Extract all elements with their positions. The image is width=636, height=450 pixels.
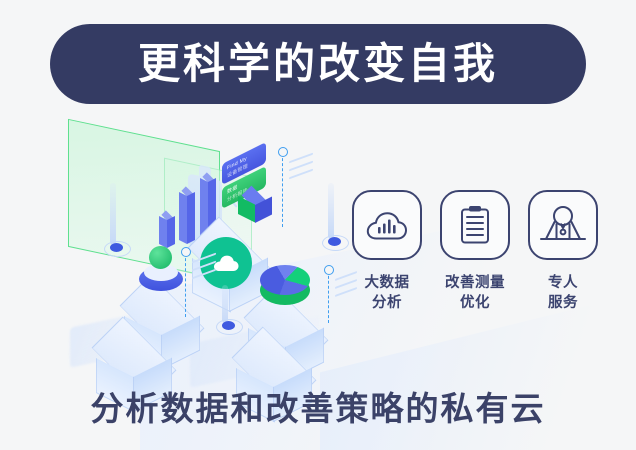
- pie-chart-top: [260, 265, 310, 295]
- connector-node-2: [278, 147, 288, 157]
- pin-right: [328, 237, 341, 246]
- feature-label: 专人 服务: [548, 273, 578, 313]
- cloud-bar-chart-icon: [352, 190, 422, 260]
- page-title: 更科学的改变自我: [138, 43, 498, 85]
- hatch-2c: [289, 169, 313, 180]
- knob-ball: [149, 246, 172, 269]
- poster-canvas: 更科学的改变自我: [0, 0, 636, 450]
- feature-label: 大数据 分析: [365, 273, 410, 313]
- connector-line-3: [328, 271, 329, 323]
- connector-line-2: [282, 153, 283, 227]
- title-banner: 更科学的改变自我: [50, 24, 586, 104]
- feature-big-data-analysis[interactable]: 大数据 分析: [350, 190, 424, 313]
- pin-left: [110, 243, 123, 252]
- connector-node-1: [181, 247, 191, 257]
- clipboard-icon: [440, 190, 510, 260]
- pole-left: [110, 183, 116, 245]
- connector-line-1: [185, 253, 186, 317]
- feature-dedicated-service[interactable]: 专人 服务: [526, 190, 600, 313]
- cloud-icon: [212, 253, 240, 273]
- connector-node-3: [324, 265, 334, 275]
- feature-list: 大数据 分析 改善测量 优化: [350, 190, 600, 313]
- pole-cloud: [222, 285, 228, 323]
- hero-illustration: Find My 设备管理 数据 分析报告: [40, 125, 350, 365]
- feature-label: 改善测量 优化: [445, 273, 505, 313]
- feature-improvement-measurement[interactable]: 改善测量 优化: [438, 190, 512, 313]
- page-caption: 分析数据和改善策略的私有云: [0, 382, 636, 430]
- pole-right: [328, 183, 334, 239]
- person-service-icon: [528, 190, 598, 260]
- pin-cloud: [222, 321, 235, 330]
- pie-chart: [260, 265, 310, 307]
